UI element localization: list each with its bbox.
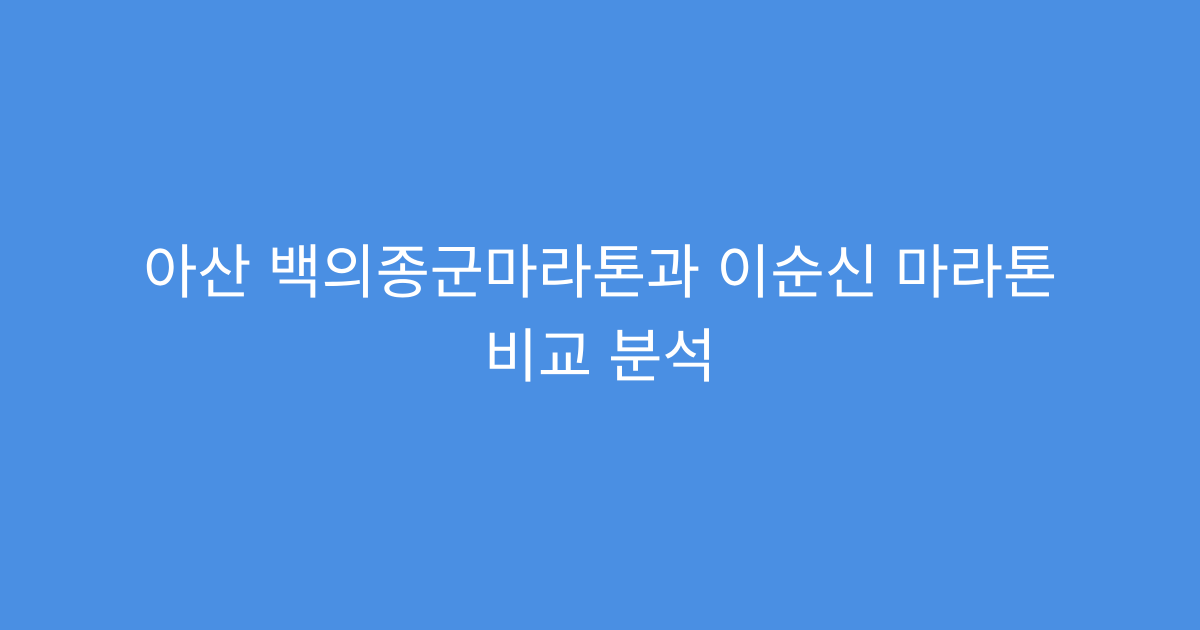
- page-title: 아산 백의종군마라톤과 이순신 마라톤 비교 분석: [50, 231, 1150, 399]
- og-card-canvas: 아산 백의종군마라톤과 이순신 마라톤 비교 분석: [0, 0, 1200, 630]
- title-block: 아산 백의종군마라톤과 이순신 마라톤 비교 분석: [50, 231, 1150, 399]
